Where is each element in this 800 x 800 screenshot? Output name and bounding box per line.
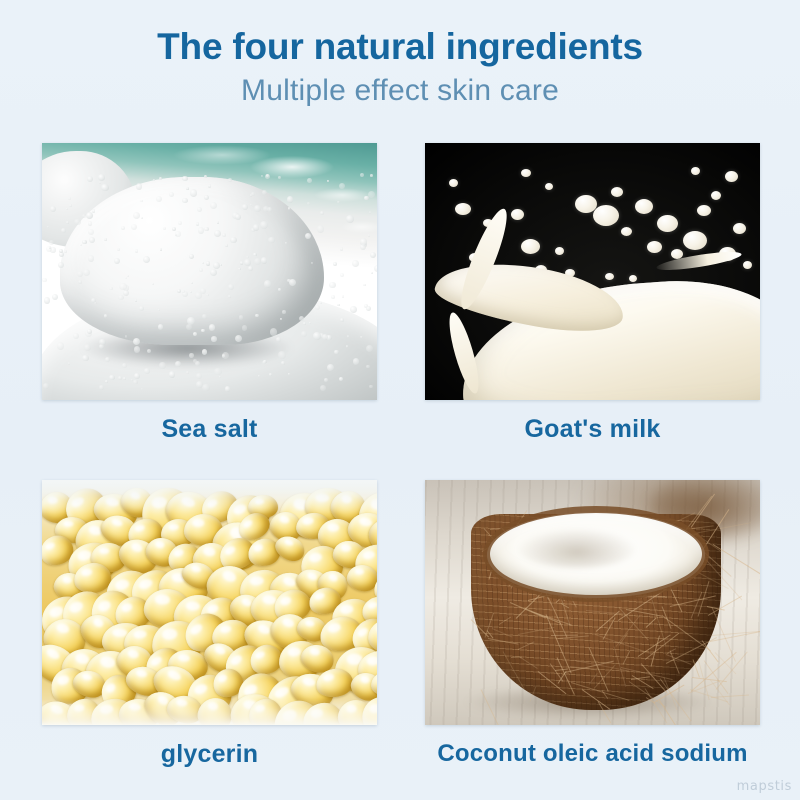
salt-grain (228, 295, 231, 298)
salt-grain (213, 262, 220, 269)
salt-grain (204, 227, 208, 231)
coconut-fiber (646, 618, 657, 628)
salt-grain (209, 324, 216, 331)
salt-grain (250, 204, 252, 206)
salt-grain (158, 309, 161, 312)
ingredient-card-sea-salt[interactable]: Sea salt (42, 143, 377, 444)
salt-grain (196, 222, 199, 225)
salt-grain (340, 247, 344, 251)
salt-grain (281, 361, 285, 365)
salt-grain (327, 364, 334, 371)
salt-grain (248, 266, 253, 271)
milk-droplet (697, 205, 711, 216)
salt-grain (94, 302, 97, 305)
milk-droplet (455, 203, 471, 215)
milk-droplet (621, 227, 632, 236)
page-title: The four natural ingredients (0, 26, 800, 67)
salt-grain (118, 295, 124, 301)
salt-grain (175, 231, 181, 237)
ingredient-caption-glycerin: glycerin (42, 740, 377, 769)
coconut-fiber (492, 628, 513, 638)
salt-grain (140, 200, 143, 203)
header: The four natural ingredients Multiple ef… (0, 0, 800, 109)
salt-grain (202, 314, 207, 319)
ingredient-caption-goats-milk: Goat's milk (425, 415, 760, 444)
salt-grain (172, 227, 176, 231)
salt-grain (186, 187, 189, 190)
salt-grain (134, 373, 140, 379)
milk-droplet (725, 171, 738, 182)
milk-droplet (683, 231, 707, 250)
ingredient-caption-sea-salt: Sea salt (42, 415, 377, 444)
salt-grain (270, 328, 278, 336)
milk-droplet (657, 215, 678, 232)
bottom-haze (42, 699, 377, 725)
salt-grain (322, 334, 328, 340)
salt-grain (363, 284, 365, 286)
coconut-fiber (661, 615, 710, 651)
salt-grain (261, 257, 268, 264)
salt-grain (190, 189, 198, 197)
salt-grain (105, 357, 110, 362)
salt-grain (260, 221, 268, 229)
milk-droplet (647, 241, 662, 253)
top-haze (42, 480, 377, 514)
sea-salt-photo (42, 143, 377, 400)
salt-grain (114, 258, 120, 264)
salt-grain (135, 249, 139, 253)
salt-grain (99, 385, 104, 390)
salt-grain (211, 336, 217, 342)
salt-grain (101, 184, 109, 192)
salt-grain (159, 362, 166, 369)
salt-grain (228, 178, 232, 182)
coconut-fiber (669, 650, 679, 673)
salt-grain (262, 190, 267, 195)
salt-grain (98, 174, 105, 181)
salt-grain (317, 225, 325, 233)
coconut-fiber (488, 638, 519, 645)
salt-grain (104, 314, 107, 317)
milk-droplet (521, 169, 531, 177)
salt-grain (136, 183, 143, 190)
salt-grain (64, 250, 67, 253)
salt-grain (59, 249, 63, 253)
salt-grain (189, 353, 194, 358)
salt-grain (196, 373, 202, 379)
coconut-fiber (613, 646, 626, 687)
salt-grain (262, 361, 265, 364)
salt-grain (208, 184, 212, 188)
salt-grain (122, 363, 127, 368)
salt-grain (346, 345, 348, 347)
milk-droplet (691, 167, 700, 175)
salt-grain (198, 227, 205, 234)
salt-grain (133, 380, 138, 385)
milk-droplet (733, 223, 746, 234)
milk-droplet (511, 209, 524, 220)
salt-grain (73, 333, 80, 340)
salt-grain (369, 385, 373, 389)
salt-grain (342, 295, 345, 298)
milk-droplet (635, 199, 653, 214)
salt-grain (58, 262, 64, 268)
salt-grain (282, 310, 286, 314)
salt-grain (202, 384, 210, 392)
salt-grain (158, 324, 163, 329)
coconut-photo (425, 480, 760, 725)
salt-grain (121, 226, 125, 230)
salt-grain (86, 212, 93, 219)
milk-droplet (593, 205, 619, 226)
salt-grain (99, 181, 102, 184)
salt-grain (299, 316, 304, 321)
salt-grain (141, 388, 143, 390)
salt-grain (353, 358, 360, 365)
milk-droplet (605, 273, 614, 280)
salt-grain (210, 202, 217, 209)
milk-droplet (743, 261, 752, 269)
salt-grain (197, 207, 202, 212)
milk-droplet (449, 179, 458, 187)
salt-grain (352, 260, 359, 267)
salt-grain (133, 338, 140, 345)
salt-grain (88, 221, 93, 226)
salt-grain (238, 268, 241, 271)
coconut-fiber (519, 656, 538, 669)
salt-grain (44, 297, 51, 304)
salt-grain (182, 198, 188, 204)
milk-droplet (711, 191, 721, 200)
salt-grain (99, 339, 106, 346)
milk-droplet (555, 247, 564, 255)
ingredient-card-coconut[interactable]: Coconut oleic acid sodium (425, 480, 760, 768)
salt-grain (253, 224, 260, 231)
salt-grain (156, 196, 162, 202)
salt-grain (169, 371, 176, 378)
salt-grain (263, 206, 269, 212)
salt-grain (366, 306, 371, 311)
salt-grain (186, 371, 189, 374)
watermark: mapstis (737, 779, 792, 794)
milk-droplet (545, 183, 553, 190)
salt-grain (250, 194, 253, 197)
salt-grain (222, 233, 226, 237)
salt-grain (334, 350, 338, 354)
salt-grain (374, 265, 377, 273)
salt-grain (285, 242, 287, 244)
ingredients-infographic: The four natural ingredients Multiple ef… (0, 0, 800, 800)
salt-grain (214, 230, 221, 237)
salt-grain (287, 196, 294, 203)
salt-grain (242, 204, 248, 210)
milk-droplet (629, 275, 637, 282)
salt-grain (339, 183, 345, 189)
salt-grain (370, 174, 373, 177)
salt-grain (246, 256, 249, 259)
salt-grain (182, 176, 188, 182)
milk-droplet (611, 187, 623, 197)
salt-grain (269, 373, 272, 376)
salt-grain (240, 261, 244, 265)
salt-grain (88, 229, 94, 235)
ingredient-card-goats-milk[interactable]: Goat's milk (425, 143, 760, 444)
salt-grain (144, 368, 150, 374)
milk-droplet (521, 239, 540, 254)
page-subtitle: Multiple effect skin care (0, 73, 800, 109)
salt-grain (313, 332, 321, 340)
salt-grain (244, 259, 251, 266)
salt-grain (346, 215, 354, 223)
salt-grain (109, 375, 115, 381)
salt-grain (329, 282, 336, 289)
coconut-fiber (499, 616, 511, 624)
salt-grain (82, 214, 86, 218)
salt-grain (104, 238, 106, 240)
salt-grain (255, 314, 258, 317)
coconut-fiber (518, 627, 555, 635)
salt-grain (214, 368, 222, 376)
salt-grain (77, 271, 84, 278)
coconut-fiber (571, 682, 629, 701)
salt-grain (265, 174, 270, 179)
goats-milk-photo (425, 143, 760, 400)
salt-grain (264, 280, 271, 287)
salt-grain (327, 180, 329, 182)
salt-grain (278, 288, 281, 291)
salt-grain (66, 221, 69, 224)
coconut-fiber (558, 636, 589, 640)
ingredient-card-glycerin[interactable]: glycerin (42, 480, 377, 769)
salt-grain (350, 306, 357, 313)
salt-grain (92, 209, 96, 213)
salt-grain (369, 211, 372, 214)
salt-grain (360, 244, 366, 250)
salt-grain (89, 237, 95, 243)
salt-grain (123, 290, 129, 296)
coconut-fiber (517, 642, 534, 651)
glycerin-photo (42, 480, 377, 725)
salt-grain (268, 237, 275, 244)
salt-grain (204, 175, 207, 178)
salt-grain (278, 176, 281, 179)
salt-grain (68, 197, 71, 200)
salt-grain (360, 336, 363, 339)
ingredient-caption-coconut: Coconut oleic acid sodium (425, 740, 760, 768)
salt-grain (331, 295, 335, 299)
salt-grain (242, 325, 248, 331)
coconut-fiber (622, 651, 630, 665)
salt-grain (225, 386, 231, 392)
coconut-rim (483, 506, 709, 602)
